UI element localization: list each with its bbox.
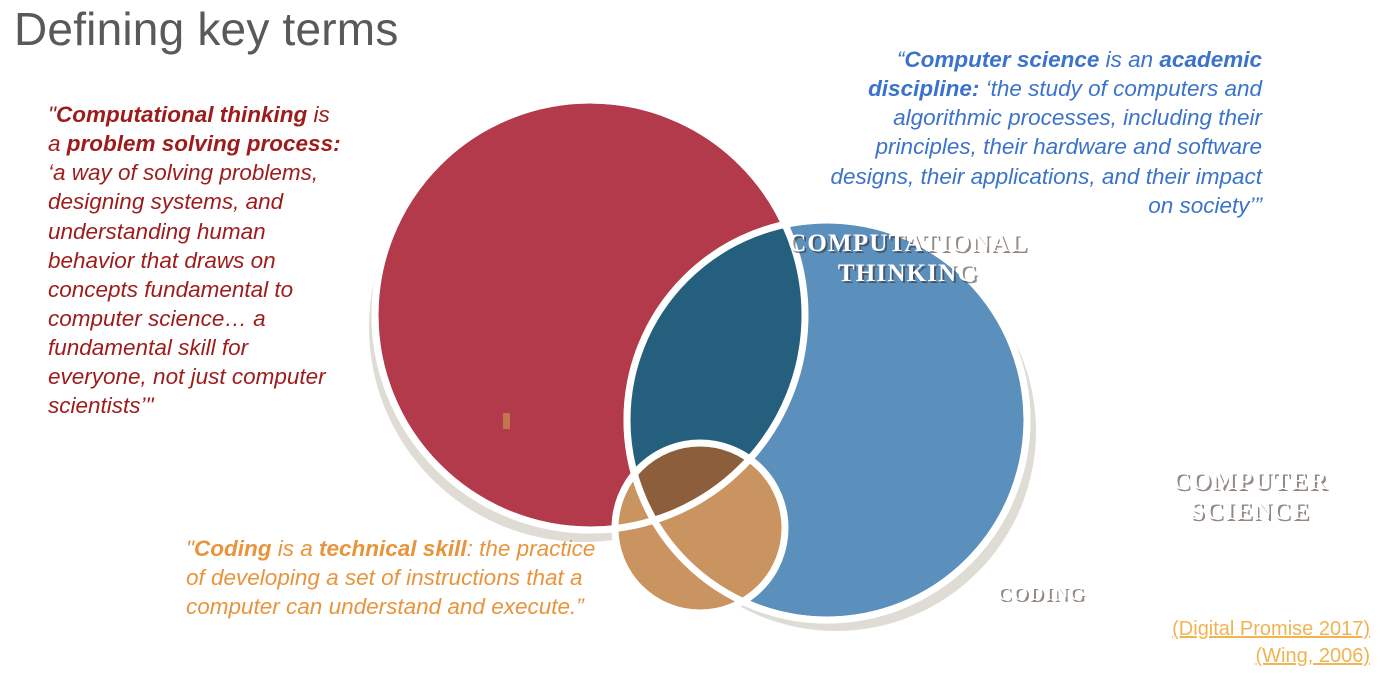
- quote-coding: "Coding is a technical skill: the practi…: [186, 534, 598, 621]
- citation-links: (Digital Promise 2017) (Wing, 2006): [1172, 616, 1370, 670]
- quote-ct-category: problem solving process:: [67, 131, 341, 156]
- venn-label-cs-line2: SCIENCE: [1140, 497, 1360, 527]
- page-title: Defining key terms: [14, 2, 399, 56]
- quote-ct-openquote: ": [48, 102, 56, 127]
- quote-computer-science: “Computer science is an academic discipl…: [800, 45, 1262, 220]
- quote-ct-term: Computational thinking: [56, 102, 307, 127]
- venn-label-cs-line1: COMPUTER: [1140, 467, 1360, 497]
- quote-coding-category: technical skill: [319, 536, 467, 561]
- venn-label-computer-science: COMPUTER SCIENCE: [1140, 467, 1360, 526]
- quote-ct-body: ‘a way of solving problems, designing sy…: [48, 160, 326, 418]
- quote-cs-term: Computer science: [904, 47, 1099, 72]
- quote-coding-connector: is a: [271, 536, 319, 561]
- quote-cs-connector: is an: [1099, 47, 1159, 72]
- decorative-speck: [503, 413, 510, 429]
- citation-link-digital-promise[interactable]: (Digital Promise 2017): [1172, 616, 1370, 643]
- citation-link-wing[interactable]: (Wing, 2006): [1172, 643, 1370, 670]
- slide-canvas: Defining key terms: [0, 0, 1384, 676]
- quote-coding-term: Coding: [194, 536, 271, 561]
- quote-computational-thinking: "Computational thinking is a problem sol…: [48, 100, 348, 420]
- quote-coding-openquote: ": [186, 536, 194, 561]
